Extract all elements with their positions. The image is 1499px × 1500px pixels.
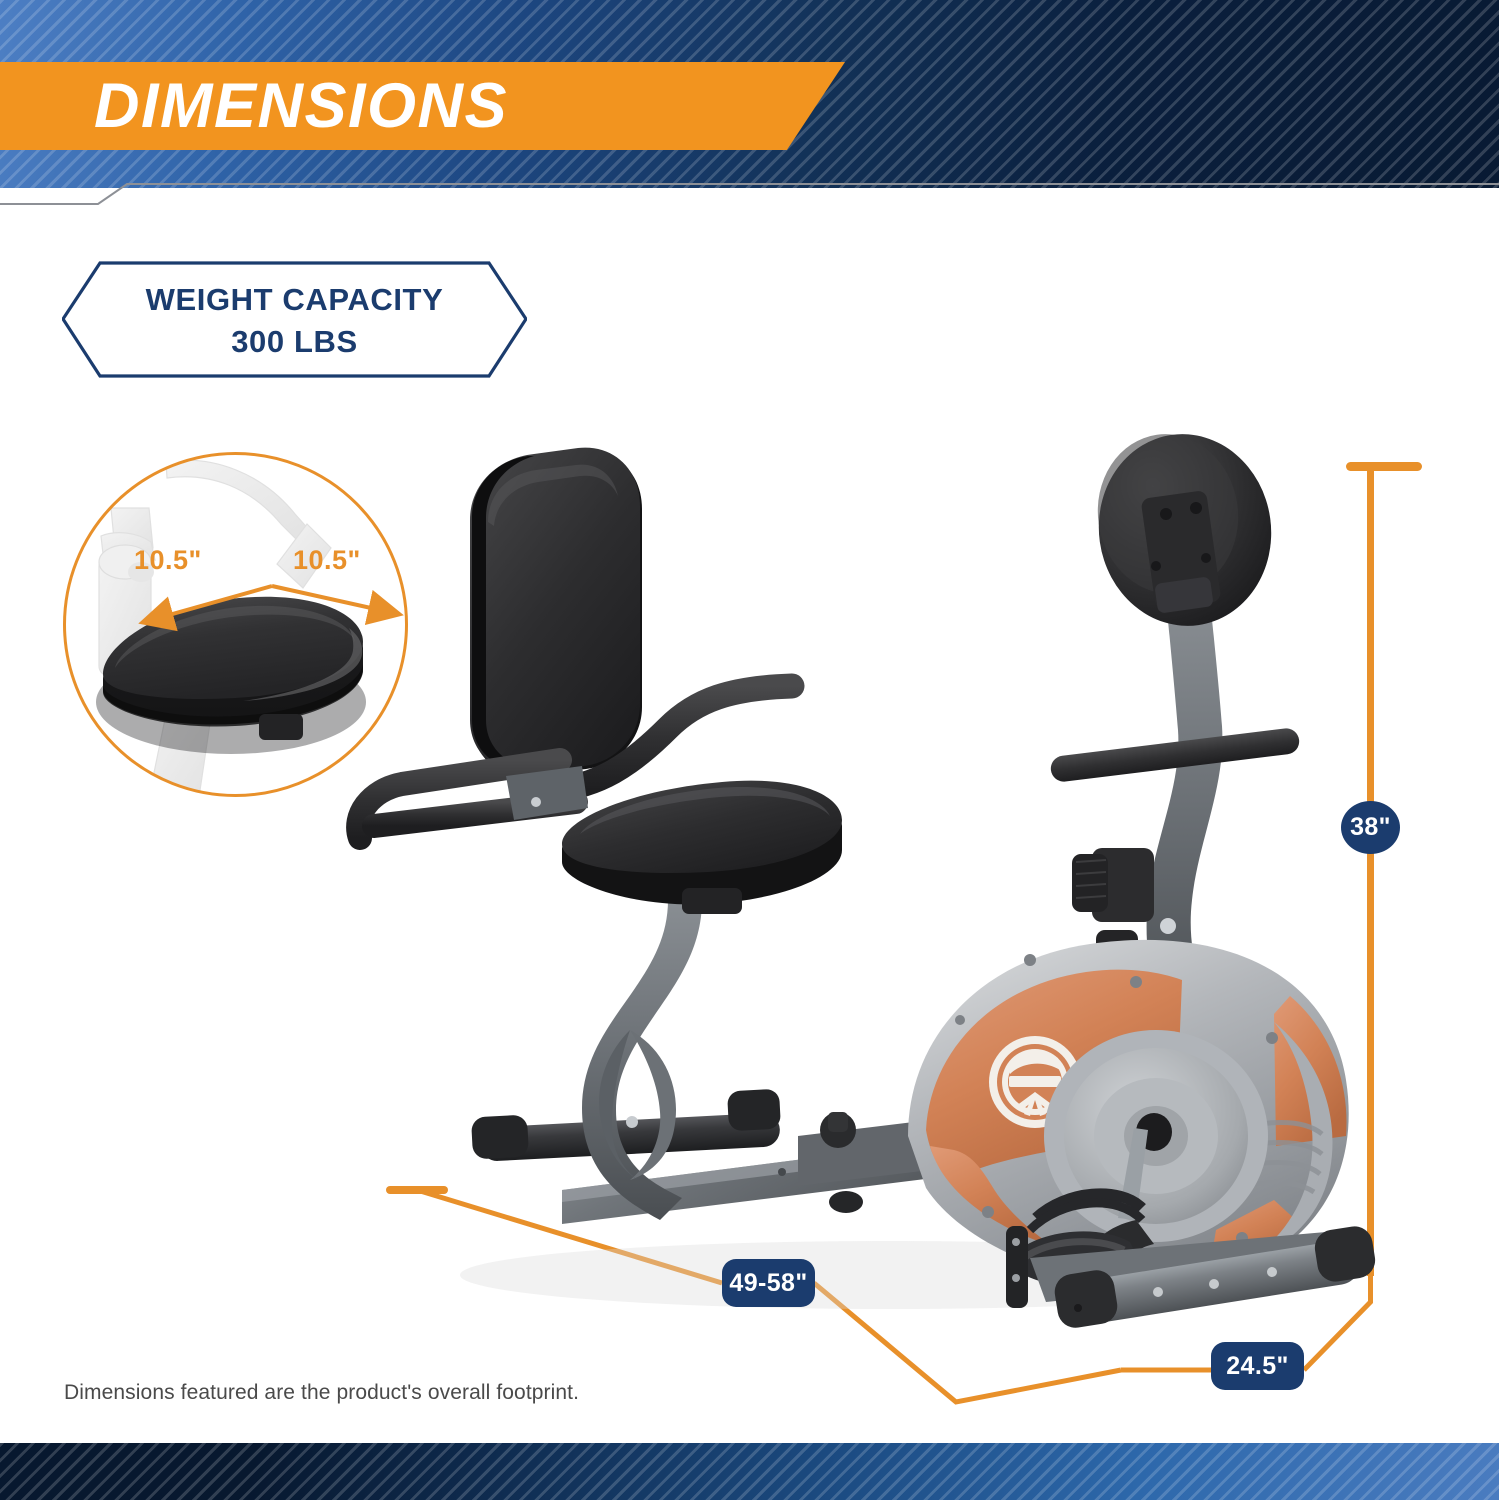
height-dimension-badge: 38" (1341, 801, 1400, 854)
weight-capacity-badge: WEIGHT CAPACITY 300 LBS (62, 252, 527, 387)
footer-band (0, 1443, 1499, 1500)
rear-stabilizer (471, 1089, 781, 1162)
seat-backrest (470, 448, 642, 776)
seat-post (582, 900, 702, 1220)
header-divider-line (0, 178, 1499, 212)
footer-stripe-background (0, 1443, 1499, 1500)
length-dimension-badge: 49-58" (722, 1259, 815, 1307)
weight-badge-text-block: WEIGHT CAPACITY 300 LBS (62, 252, 527, 387)
header-title-banner: DIMENSIONS (0, 62, 845, 150)
weight-capacity-label: WEIGHT CAPACITY (146, 279, 444, 320)
weight-capacity-value: 300 LBS (231, 321, 358, 362)
product-image (330, 430, 1420, 1390)
page-title: DIMENSIONS (94, 75, 508, 138)
console-monitor (1086, 430, 1283, 637)
header-band: DIMENSIONS (0, 0, 1499, 188)
handlebar (1049, 727, 1300, 783)
footnote-text: Dimensions featured are the product's ov… (64, 1381, 579, 1405)
seat-cushion (562, 781, 842, 914)
seat-width-label-left: 10.5" (134, 545, 202, 576)
width-dimension-badge: 24.5" (1211, 1342, 1304, 1390)
